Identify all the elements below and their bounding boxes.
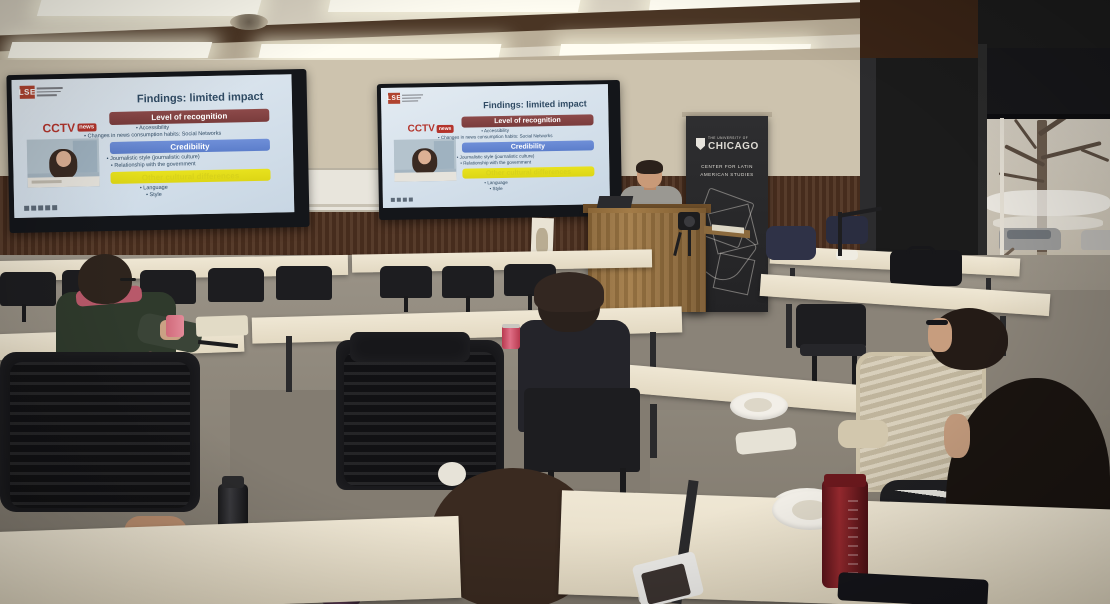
banner-institution-prefix: THE UNIVERSITY OF bbox=[692, 136, 774, 140]
banner-center-line2: AMERICAN STUDIES bbox=[686, 172, 768, 177]
lse-mark: LSE bbox=[388, 93, 400, 104]
table bbox=[0, 516, 461, 604]
bag-on-chair bbox=[350, 332, 470, 362]
lse-logo: LSE bbox=[388, 92, 423, 104]
parked-car bbox=[1081, 230, 1110, 250]
backpack-handle bbox=[906, 246, 936, 257]
twitter-icon bbox=[397, 198, 401, 202]
can-lid bbox=[502, 324, 520, 328]
bottle-cap bbox=[824, 474, 866, 487]
ceiling-light-panel bbox=[259, 44, 502, 58]
chair[interactable] bbox=[766, 226, 816, 260]
ceiling-light-panel bbox=[328, 0, 582, 12]
table-leg bbox=[650, 404, 657, 458]
projector-screen-right: LSE Findings: limited impact CCTV news L… bbox=[377, 80, 622, 220]
cup bbox=[166, 315, 184, 337]
lecture-room-photo: LSE Findings: limited impact CCTV news bbox=[0, 0, 1110, 604]
takeout-box bbox=[196, 315, 249, 337]
chair[interactable] bbox=[0, 272, 56, 306]
banner-center-line1: CENTER FOR LATIN bbox=[686, 164, 768, 169]
youtube-icon bbox=[52, 205, 57, 210]
table-leg bbox=[286, 336, 292, 392]
slide-title: Findings: limited impact bbox=[483, 98, 587, 110]
chair-leg bbox=[466, 296, 470, 312]
facebook-icon bbox=[24, 206, 29, 211]
tripod-leg bbox=[688, 230, 691, 256]
projector-screen-left: LSE Findings: limited impact CCTV news bbox=[6, 69, 309, 233]
attendee-right-back-arm bbox=[838, 420, 888, 448]
table-leg bbox=[786, 304, 792, 348]
chair[interactable] bbox=[380, 266, 432, 298]
food-on-plate bbox=[744, 398, 772, 412]
soda-can-pink bbox=[502, 325, 520, 349]
window-shade[interactable] bbox=[985, 48, 1110, 118]
slide-footer-icons bbox=[24, 205, 57, 211]
ceiling-speaker bbox=[230, 14, 268, 30]
twitter-icon bbox=[31, 206, 36, 211]
attendee-left-glasses-icon bbox=[120, 278, 136, 281]
instagram-icon bbox=[38, 205, 43, 210]
slide-left: LSE Findings: limited impact CCTV news bbox=[11, 74, 294, 218]
right-wall-wood-header bbox=[860, 0, 978, 58]
chair[interactable] bbox=[276, 266, 332, 300]
attendee-center-hair bbox=[534, 272, 604, 312]
slide-right: LSE Findings: limited impact CCTV news L… bbox=[381, 84, 610, 208]
facebook-icon bbox=[391, 198, 395, 202]
chair[interactable] bbox=[826, 216, 868, 244]
banner-institution: CHICAGO bbox=[692, 141, 774, 152]
speaker-hair bbox=[636, 160, 663, 174]
sign-graphic bbox=[536, 228, 548, 252]
laptop-on-podium bbox=[597, 196, 634, 208]
coat-quilting bbox=[10, 362, 190, 508]
attendee-front-scrunchie bbox=[438, 462, 466, 486]
chair-leg bbox=[404, 296, 408, 312]
instagram-icon bbox=[403, 198, 407, 202]
puffy-coat-quilting bbox=[344, 352, 496, 486]
ceiling-light-panel bbox=[8, 42, 213, 58]
chair[interactable] bbox=[524, 388, 640, 472]
slide-section-heading: Level of recognition bbox=[461, 114, 593, 127]
ceiling-light-panel bbox=[37, 0, 263, 16]
camera-lens-icon bbox=[684, 216, 695, 227]
chair[interactable] bbox=[208, 268, 264, 302]
attendee-right-front-face bbox=[944, 414, 970, 458]
bottle-cap bbox=[222, 476, 244, 488]
linkedin-icon bbox=[409, 198, 413, 202]
lse-mark: LSE bbox=[20, 86, 35, 99]
chair[interactable] bbox=[442, 266, 494, 298]
bottle-measure-marks bbox=[848, 500, 858, 574]
chair-leg bbox=[528, 294, 532, 310]
lse-logo: LSE bbox=[20, 85, 63, 99]
chair-seat bbox=[800, 344, 866, 356]
chair[interactable] bbox=[796, 304, 866, 348]
attendee-right-back-glasses-icon bbox=[926, 320, 948, 325]
chair-leg bbox=[22, 304, 26, 322]
linkedin-icon bbox=[45, 205, 50, 210]
slide-footer-icons bbox=[391, 198, 413, 202]
lamp-stand bbox=[838, 212, 842, 256]
